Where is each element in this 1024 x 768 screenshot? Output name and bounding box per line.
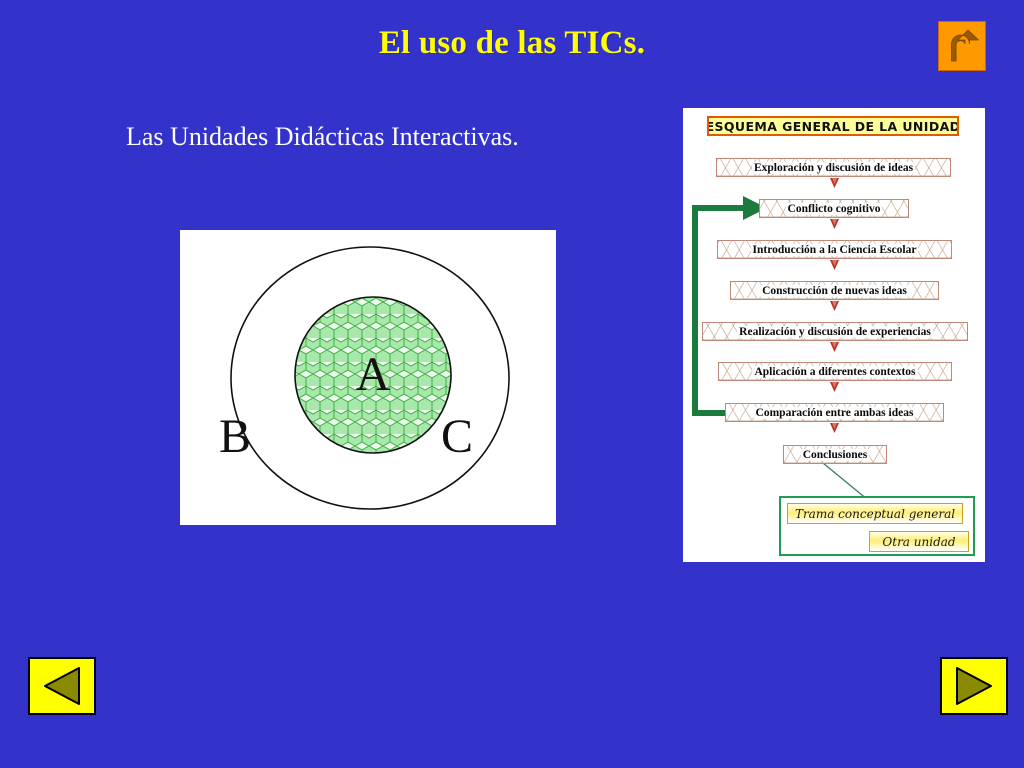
next-slide-button[interactable]: [940, 657, 1008, 715]
flow-step[interactable]: Construcción de nuevas ideas: [730, 281, 939, 300]
venn-label-c: C: [441, 410, 473, 463]
venn-label-b: B: [219, 410, 251, 463]
venn-diagram-panel: A B C: [180, 230, 556, 525]
output-box[interactable]: Trama conceptual general: [787, 503, 963, 524]
flow-step-label: Construcción de nuevas ideas: [760, 285, 909, 297]
flow-step[interactable]: Aplicación a diferentes contextos: [718, 362, 952, 381]
slide-canvas: El uso de las TICs. Las Unidades Didácti…: [0, 0, 1024, 768]
flow-step[interactable]: Conclusiones: [783, 445, 887, 464]
flow-step[interactable]: Comparación entre ambas ideas: [725, 403, 944, 422]
flowchart-header: ESQUEMA GENERAL DE LA UNIDAD: [707, 116, 959, 136]
previous-slide-button[interactable]: [28, 657, 96, 715]
flowchart-panel: ESQUEMA GENERAL DE LA UNIDAD Exploración…: [683, 108, 985, 562]
flow-step-label: Aplicación a diferentes contextos: [752, 366, 917, 378]
flow-step-label: Exploración y discusión de ideas: [752, 162, 915, 174]
connector-arrow: [829, 218, 840, 230]
connector-arrow: [829, 177, 840, 189]
output-box-label: Otra unidad: [882, 535, 955, 549]
flow-step-label: Introducción a la Ciencia Escolar: [751, 244, 919, 256]
triangle-left-icon: [41, 666, 83, 706]
output-box[interactable]: Otra unidad: [869, 531, 969, 552]
flow-step[interactable]: Introducción a la Ciencia Escolar: [717, 240, 952, 259]
return-button[interactable]: [938, 21, 986, 71]
slide-subtitle: Las Unidades Didácticas Interactivas.: [126, 122, 519, 152]
flow-step[interactable]: Conflicto cognitivo: [759, 199, 909, 218]
triangle-right-icon: [953, 666, 995, 706]
flow-step-label: Comparación entre ambas ideas: [754, 407, 916, 419]
u-turn-arrow-icon: [945, 28, 979, 64]
flow-step[interactable]: Exploración y discusión de ideas: [716, 158, 951, 177]
flow-step[interactable]: Realización y discusión de experiencias: [702, 322, 968, 341]
venn-diagram-graphic: A B C: [180, 230, 556, 525]
connector-arrow: [829, 259, 840, 271]
flow-step-label: Conflicto cognitivo: [786, 203, 883, 215]
page-title: El uso de las TICs.: [0, 25, 1024, 62]
connector-arrow: [829, 381, 840, 393]
flow-step-label: Realización y discusión de experiencias: [737, 326, 933, 338]
venn-label-a: A: [356, 348, 391, 401]
connector-arrow: [829, 422, 840, 434]
flow-step-label: Conclusiones: [801, 449, 870, 461]
output-box-label: Trama conceptual general: [795, 507, 955, 521]
connector-arrow: [829, 341, 840, 353]
output-group: Trama conceptual general Otra unidad: [779, 496, 975, 556]
connector-arrow: [829, 300, 840, 312]
